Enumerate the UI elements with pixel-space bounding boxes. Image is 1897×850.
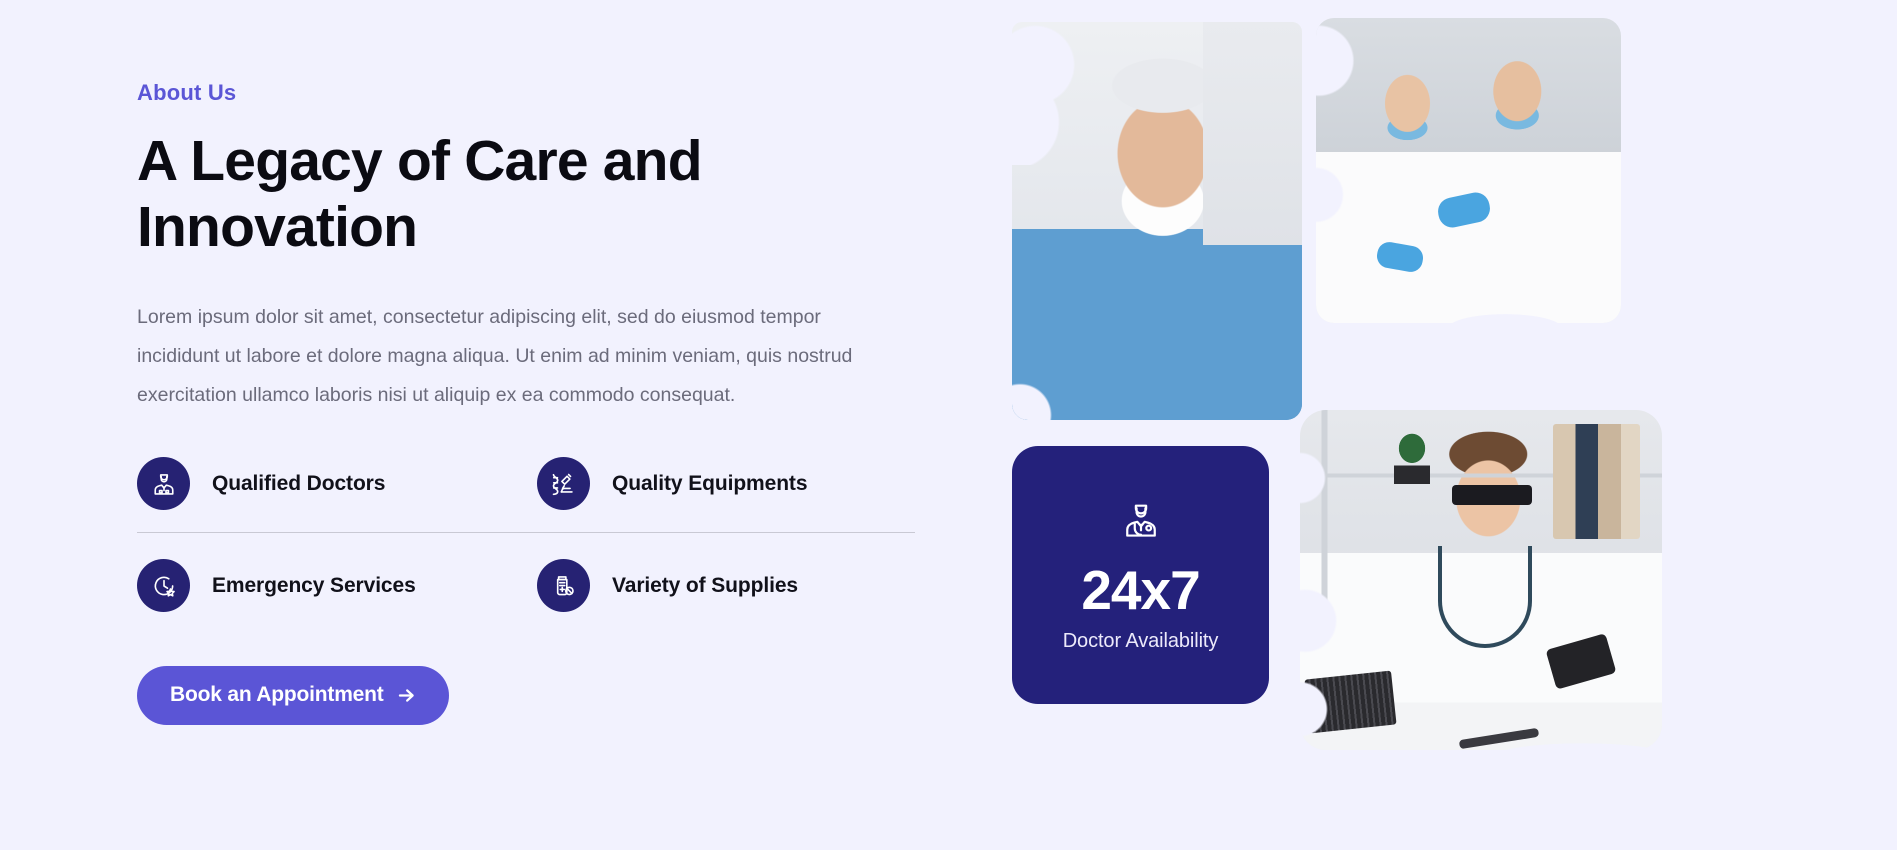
feature-list: Qualified Doctors bbox=[137, 457, 917, 612]
microscope-dna-icon bbox=[537, 457, 590, 510]
page-title: A Legacy of Care and Innovation bbox=[137, 128, 797, 260]
feature-item-qualified-doctors[interactable]: Qualified Doctors bbox=[137, 457, 537, 510]
book-appointment-button[interactable]: Book an Appointment bbox=[137, 666, 449, 725]
section-eyebrow: About Us bbox=[137, 80, 927, 106]
arrow-right-icon bbox=[396, 685, 417, 706]
availability-caption: Doctor Availability bbox=[1063, 630, 1219, 653]
doctor-availability-card: 24x7 Doctor Availability bbox=[1012, 446, 1269, 704]
medicine-bottle-pills-icon bbox=[537, 559, 590, 612]
feature-label: Quality Equipments bbox=[612, 472, 807, 496]
availability-value: 24x7 bbox=[1081, 563, 1199, 618]
feature-item-variety-of-supplies[interactable]: Variety of Supplies bbox=[537, 559, 915, 612]
feature-item-quality-equipments[interactable]: Quality Equipments bbox=[537, 457, 915, 510]
feature-row: Emergency Services Varie bbox=[137, 533, 917, 612]
about-content: About Us A Legacy of Care and Innovation… bbox=[137, 80, 927, 725]
feature-row: Qualified Doctors bbox=[137, 457, 917, 532]
feature-item-emergency-services[interactable]: Emergency Services bbox=[137, 559, 537, 612]
female-doctor-writing-at-desk-photo bbox=[1300, 410, 1662, 750]
feature-label: Emergency Services bbox=[212, 574, 416, 598]
doctor-icon bbox=[137, 457, 190, 510]
two-doctors-standing-photo bbox=[1316, 18, 1621, 323]
book-appointment-label: Book an Appointment bbox=[170, 683, 384, 707]
about-us-section: About Us A Legacy of Care and Innovation… bbox=[0, 0, 1897, 850]
feature-label: Qualified Doctors bbox=[212, 472, 385, 496]
surgeon-holding-syringe-photo bbox=[1012, 22, 1302, 420]
feature-label: Variety of Supplies bbox=[612, 574, 798, 598]
clock-24-icon bbox=[137, 559, 190, 612]
section-description: Lorem ipsum dolor sit amet, consectetur … bbox=[137, 298, 897, 415]
photo-collage: 24x7 Doctor Availability bbox=[1000, 0, 1897, 850]
doctor-icon bbox=[1119, 498, 1163, 547]
